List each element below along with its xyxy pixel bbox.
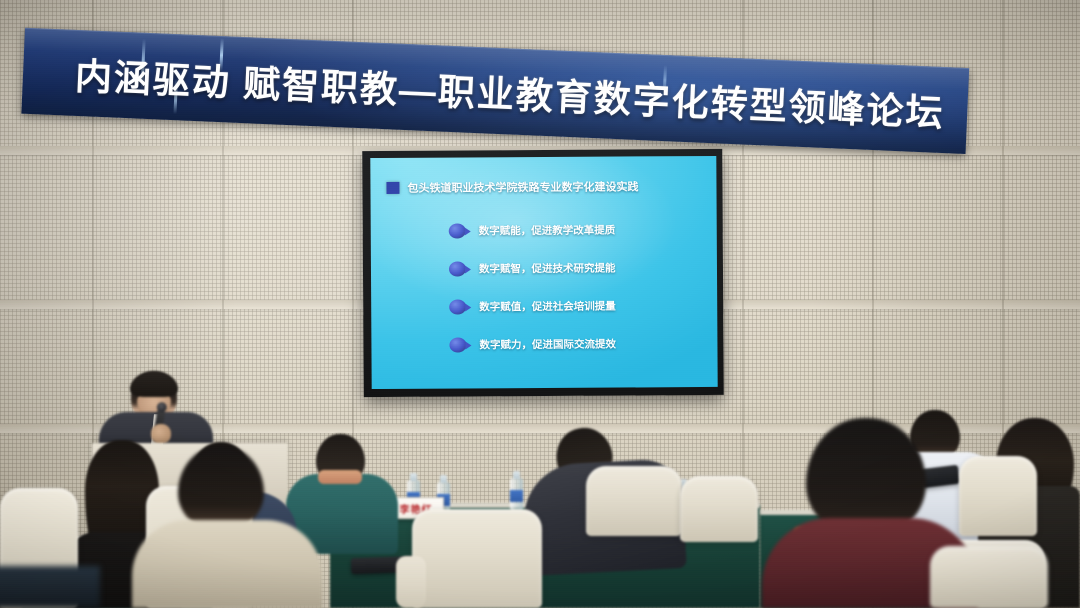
water-bottle	[510, 478, 523, 512]
chair	[959, 456, 1037, 536]
chair-arm	[396, 556, 426, 608]
slide-title: 包头铁道职业技术学院铁路专业数字化建设实践	[407, 178, 638, 195]
projection-screen: 包头铁道职业技术学院铁路专业数字化建设实践 数字赋能，促进教学改革提质 数字赋智…	[362, 149, 723, 397]
drop-bullet-icon	[449, 337, 466, 352]
audience-collar	[318, 470, 362, 484]
bullet-label: 数字赋力，促进国际交流提效	[479, 337, 616, 353]
chair	[586, 466, 682, 536]
chair	[680, 476, 758, 542]
slide-bullet-list: 数字赋能，促进教学改革提质 数字赋智，促进技术研究提能 数字赋值，促进社会培训提…	[449, 223, 616, 353]
drop-bullet-icon	[449, 223, 466, 238]
list-item: 数字赋能，促进教学改革提质	[449, 223, 616, 239]
chair	[412, 509, 542, 608]
slide-content: 包头铁道职业技术学院铁路专业数字化建设实践 数字赋能，促进教学改革提质 数字赋智…	[370, 156, 717, 389]
list-item: 数字赋值，促进社会培训提量	[449, 299, 616, 315]
bullet-label: 数字赋值，促进社会培训提量	[479, 299, 616, 315]
drop-bullet-icon	[449, 299, 466, 314]
bullet-label: 数字赋智，促进技术研究提能	[479, 261, 616, 277]
bullet-label: 数字赋能，促进教学改革提质	[479, 223, 616, 239]
list-item: 数字赋智，促进技术研究提能	[449, 261, 616, 277]
audience-torso	[132, 520, 322, 608]
drop-bullet-icon	[449, 261, 466, 276]
square-bullet-icon	[386, 182, 399, 194]
list-item: 数字赋力，促进国际交流提效	[449, 337, 616, 353]
foreground-object	[0, 566, 100, 608]
chair	[930, 546, 1048, 608]
audience-head	[178, 446, 264, 530]
speaker-hand	[151, 424, 171, 444]
slide-title-row: 包头铁道职业技术学院铁路专业数字化建设实践	[386, 178, 638, 196]
conference-photo: 内涵驱动 赋智职教—职业教育数字化转型领峰论坛 包头铁道职业技术学院铁路专业数字…	[0, 0, 1080, 608]
